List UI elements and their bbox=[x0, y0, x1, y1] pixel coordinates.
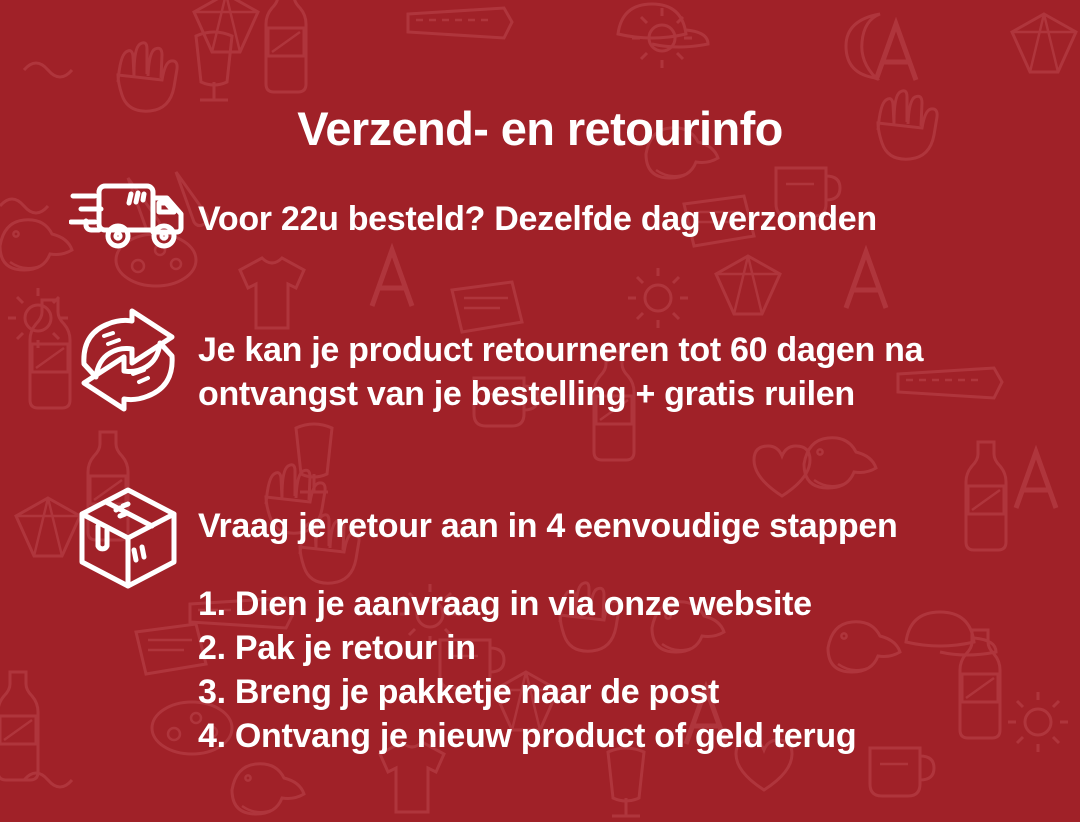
section-shipping: Voor 22u besteld? Dezelfde dag verzonden bbox=[58, 172, 877, 256]
page-title: Verzend- en retourinfo bbox=[0, 105, 1080, 152]
return-steps-list: 1. Dien je aanvraag in via onze website … bbox=[198, 582, 897, 758]
shipping-returns-banner: Verzend- en retourinfo Voor 22u bbox=[0, 0, 1080, 822]
package-box-icon bbox=[58, 484, 198, 592]
return-exchange-arrows-icon bbox=[58, 308, 198, 412]
delivery-truck-icon bbox=[58, 172, 198, 256]
steps-heading: Vraag je retour aan in 4 eenvoudige stap… bbox=[198, 504, 897, 548]
returns-line-2: ontvangst van je bestelling + gratis rui… bbox=[198, 372, 923, 416]
shipping-line-1: Voor 22u besteld? Dezelfde dag verzonden bbox=[198, 197, 877, 241]
shipping-text: Voor 22u besteld? Dezelfde dag verzonden bbox=[198, 172, 877, 241]
list-item: 3. Breng je pakketje naar de post bbox=[198, 670, 897, 714]
section-return-steps: Vraag je retour aan in 4 eenvoudige stap… bbox=[58, 484, 897, 758]
returns-line-1: Je kan je product retourneren tot 60 dag… bbox=[198, 328, 923, 372]
steps-text: Vraag je retour aan in 4 eenvoudige stap… bbox=[198, 484, 897, 758]
section-returns: Je kan je product retourneren tot 60 dag… bbox=[58, 308, 923, 416]
returns-text: Je kan je product retourneren tot 60 dag… bbox=[198, 308, 923, 416]
list-item: 2. Pak je retour in bbox=[198, 626, 897, 670]
list-item: 4. Ontvang je nieuw product of geld teru… bbox=[198, 714, 897, 758]
list-item: 1. Dien je aanvraag in via onze website bbox=[198, 582, 897, 626]
